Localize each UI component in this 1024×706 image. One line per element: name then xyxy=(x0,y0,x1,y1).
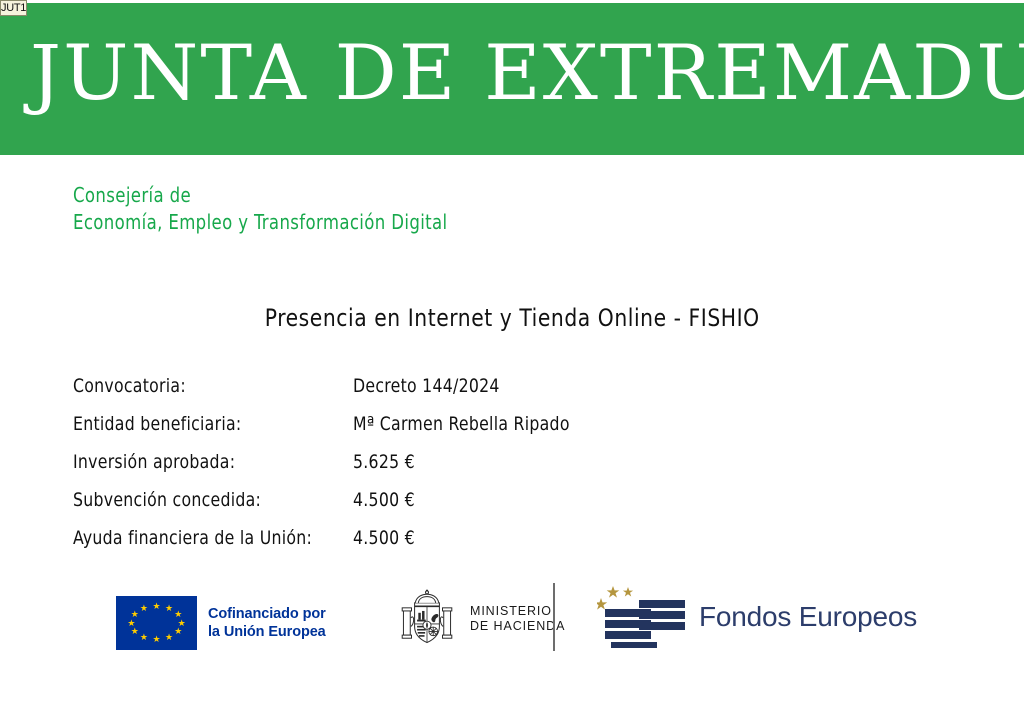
eu-star-icon: ★ xyxy=(165,633,174,642)
table-row: Entidad beneficiaria:Mª Carmen Rebella R… xyxy=(73,411,693,449)
eu-star-icon: ★ xyxy=(152,602,161,611)
logo-divider xyxy=(553,583,555,651)
page-title: JUNTA DE EXTREMADURA xyxy=(30,25,1019,121)
detail-value: 4.500 € xyxy=(353,525,415,551)
ministry-line-2: DE HACIENDA xyxy=(470,619,565,635)
fondos-europeos-logo: Fondos Europeos xyxy=(597,586,917,648)
eu-star-icon: ★ xyxy=(174,627,183,636)
table-row: Inversión aprobada:5.625 € xyxy=(73,449,693,487)
detail-label: Inversión aprobada: xyxy=(73,449,331,475)
eu-star-icon: ★ xyxy=(139,633,148,642)
fondos-europeos-stripes-icon xyxy=(597,586,685,648)
eu-star-icon: ★ xyxy=(130,610,139,619)
detail-value: 4.500 € xyxy=(353,487,415,513)
eu-logo-line-2: la Unión Europea xyxy=(208,623,326,641)
ministry-logo-label: MINISTERIO DE HACIENDA xyxy=(470,604,565,635)
fondos-europeos-label: Fondos Europeos xyxy=(699,601,917,633)
details-table: Convocatoria:Decreto 144/2024 Entidad be… xyxy=(73,373,693,563)
detail-value: 5.625 € xyxy=(353,449,415,475)
ministry-logo: MINISTERIO DE HACIENDA xyxy=(396,588,565,650)
eu-logo-label: Cofinanciado por la Unión Europea xyxy=(208,605,326,641)
eu-star-icon: ★ xyxy=(127,619,136,628)
brand-banner: JUNTA DE EXTREMADURA xyxy=(0,3,1024,155)
eu-cofinanced-logo: ★★★★★★★★★★★★ Cofinanciado por la Unión E… xyxy=(116,596,326,650)
department-line-1: Consejería de xyxy=(73,182,448,209)
detail-label: Convocatoria: xyxy=(73,373,331,399)
corner-tag: JUT1 xyxy=(0,0,27,16)
detail-value: Decreto 144/2024 xyxy=(353,373,500,399)
eu-star-icon: ★ xyxy=(152,635,161,644)
eu-star-icon: ★ xyxy=(130,627,139,636)
ministry-line-1: MINISTERIO xyxy=(470,604,565,620)
detail-value: Mª Carmen Rebella Ripado xyxy=(353,411,570,437)
table-row: Subvención concedida:4.500 € xyxy=(73,487,693,525)
detail-label: Entidad beneficiaria: xyxy=(73,411,331,437)
spain-coat-of-arms-icon xyxy=(396,588,458,650)
footer-logo-strip: ★★★★★★★★★★★★ Cofinanciado por la Unión E… xyxy=(0,578,1024,658)
eu-flag-icon: ★★★★★★★★★★★★ xyxy=(116,596,197,650)
eu-star-icon: ★ xyxy=(139,604,148,613)
eu-star-icon: ★ xyxy=(165,604,174,613)
table-row: Ayuda financiera de la Unión:4.500 € xyxy=(73,525,693,563)
project-title-text: Presencia en Internet y Tienda Online - … xyxy=(265,303,760,333)
table-row: Convocatoria:Decreto 144/2024 xyxy=(73,373,693,411)
project-title: Presencia en Internet y Tienda Online - … xyxy=(0,303,1024,333)
department-line-2: Economía, Empleo y Transformación Digita… xyxy=(73,209,448,236)
department-name: Consejería de Economía, Empleo y Transfo… xyxy=(73,182,448,236)
eu-logo-line-1: Cofinanciado por xyxy=(208,605,326,623)
detail-label: Ayuda financiera de la Unión: xyxy=(73,525,331,551)
detail-label: Subvención concedida: xyxy=(73,487,331,513)
